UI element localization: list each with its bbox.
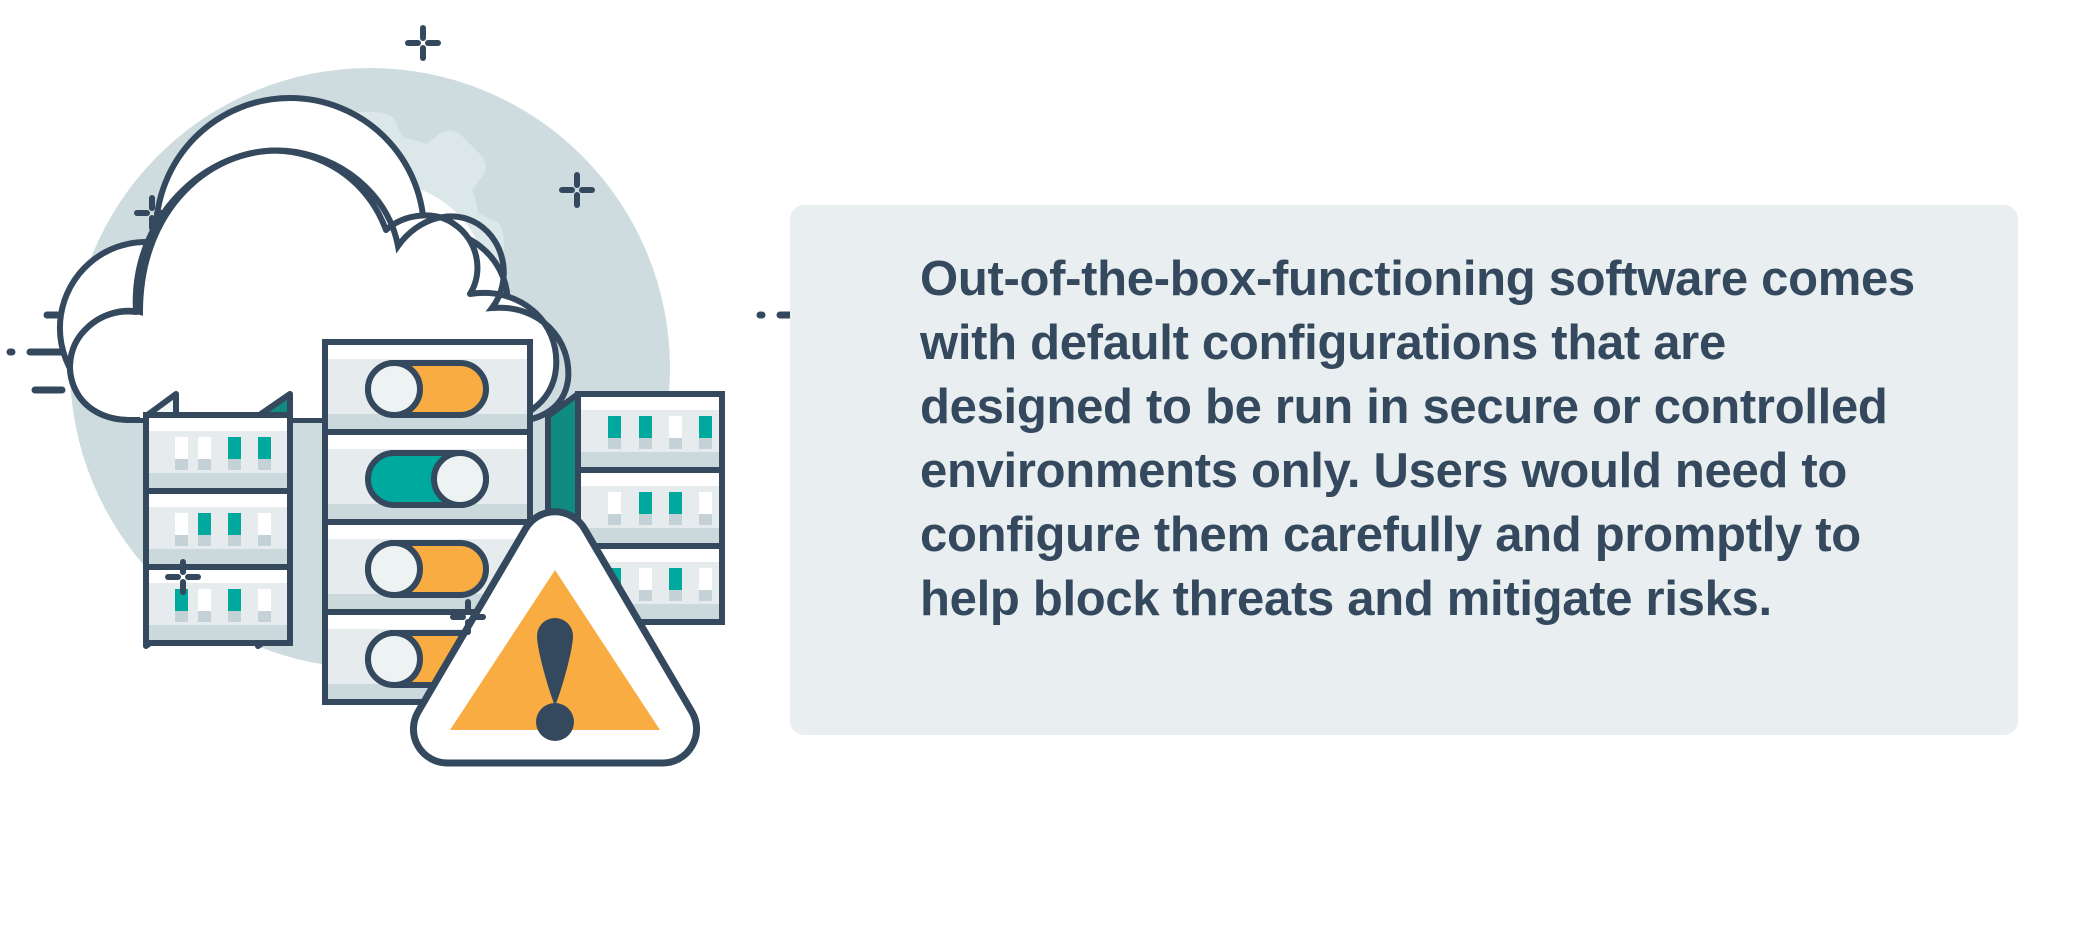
toggle-switch[interactable] bbox=[368, 453, 486, 505]
toggle-switch[interactable] bbox=[368, 363, 486, 415]
toggle-switch[interactable] bbox=[368, 543, 486, 595]
toggle-unit bbox=[325, 432, 530, 522]
callout-panel: Out-of-the-box-functioning software come… bbox=[790, 205, 2018, 735]
toggle-unit bbox=[325, 342, 530, 432]
server-unit bbox=[578, 394, 722, 470]
server-rack-left bbox=[146, 394, 290, 646]
cloud-server-illustration bbox=[0, 0, 900, 938]
server-unit bbox=[146, 415, 290, 491]
server-unit bbox=[578, 470, 722, 546]
callout-body-text: Out-of-the-box-functioning software come… bbox=[920, 247, 1920, 631]
exclamation-dot bbox=[536, 703, 574, 741]
illustration-callout-stage: Out-of-the-box-functioning software come… bbox=[0, 0, 2084, 938]
server-unit bbox=[146, 491, 290, 567]
